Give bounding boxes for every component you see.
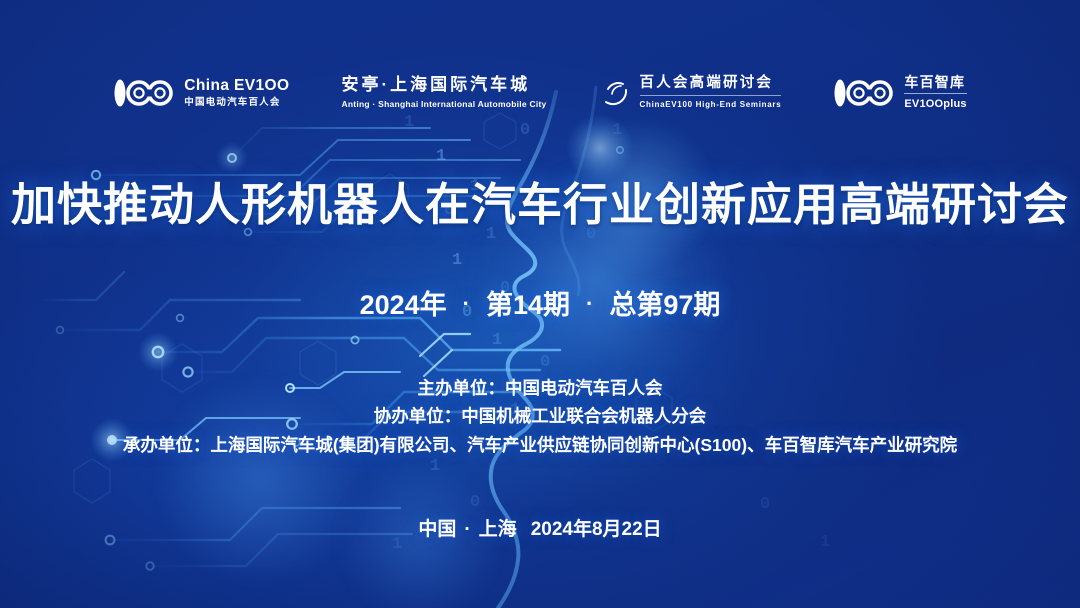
logo-bar: China EV1OO 中国电动汽车百人会 安亭·上海国际汽车城 Anting … — [0, 64, 1080, 122]
event-location-date: 中国·上海2024年8月22日 — [0, 514, 1080, 541]
logo-anting-text: 安亭·上海国际汽车城 Anting · Shanghai Internation… — [341, 76, 546, 110]
logo-anting: 安亭·上海国际汽车城 Anting · Shanghai Internation… — [341, 76, 546, 110]
logo-anting-en: Anting · Shanghai International Automobi… — [341, 99, 546, 110]
issue-year: 2024年 — [360, 290, 447, 320]
seminar-swoosh-icon — [599, 77, 631, 109]
chevron-accent-icon — [420, 334, 470, 376]
organizer-list: 主办单位：中国电动汽车百人会 协办单位：中国机械工业联合会机器人分会 承办单位：… — [0, 374, 1080, 459]
organizer-undertaker: 承办单位：上海国际汽车城(集团)有限公司、汽车产业供应链协同创新中心(S100)… — [0, 431, 1080, 459]
logo-seminar-text: 百人会高端研讨会 ChinaEV100 High-End Seminars — [640, 76, 782, 110]
issue-separator-2: · — [570, 290, 609, 318]
logo-seminar-en: ChinaEV100 High-End Seminars — [640, 100, 782, 110]
logo-chinaev100-cn: 中国电动汽车百人会 — [184, 97, 289, 109]
logo-chinaev100: China EV1OO 中国电动汽车百人会 — [113, 77, 289, 109]
logo-ev100plus: 车百智库 EV1OOplus — [833, 75, 966, 111]
logo-ev100plus-en: EV1OOplus — [904, 97, 966, 111]
logo-ev100plus-text: 车百智库 EV1OOplus — [904, 75, 966, 111]
page-title: 加快推动人形机器人在汽车行业创新应用高端研讨会 — [0, 178, 1080, 232]
svg-text:0: 0 — [470, 493, 480, 512]
svg-text:1: 1 — [492, 331, 502, 350]
issue-number: 第14期 — [486, 290, 570, 320]
organizer-host: 主办单位：中国电动汽车百人会 — [0, 374, 1080, 402]
svg-text:0: 0 — [520, 121, 530, 140]
logo-ev100plus-cn: 车百智库 — [904, 75, 966, 93]
svg-text:1: 1 — [436, 147, 446, 166]
organizer-co-host: 协办单位：中国机械工业联合会机器人分会 — [0, 402, 1080, 430]
ev100-infinity-logo-icon — [113, 78, 175, 108]
svg-text:1: 1 — [612, 121, 622, 140]
issue-separator-1: · — [447, 290, 486, 318]
footer-country: 中国 — [418, 519, 456, 540]
event-poster: 1 1 0 1 1 0 0 1 0 1 1 1 0 0 1 1 1 0 1 0 — [0, 0, 1080, 608]
svg-text:1: 1 — [430, 457, 440, 476]
logo-seminar-cn: 百人会高端研讨会 — [640, 76, 782, 96]
logo-seminar: 百人会高端研讨会 ChinaEV100 High-End Seminars — [599, 76, 782, 110]
logo-chinaev100-text: China EV1OO 中国电动汽车百人会 — [184, 77, 289, 109]
issue-line: 2024年·第14期·总第97期 — [0, 289, 1080, 323]
svg-text:0: 0 — [760, 495, 770, 514]
logo-chinaev100-en: China EV1OO — [184, 77, 289, 95]
footer-date: 2024年8月22日 — [531, 519, 662, 540]
logo-anting-cn: 安亭·上海国际汽车城 — [341, 76, 546, 95]
footer-separator: · — [456, 519, 478, 541]
svg-text:1: 1 — [452, 251, 462, 270]
footer-city: 上海 — [479, 519, 517, 540]
svg-text:0: 0 — [540, 353, 550, 372]
issue-total: 总第97期 — [609, 290, 720, 320]
ev100plus-infinity-logo-icon — [833, 78, 895, 108]
